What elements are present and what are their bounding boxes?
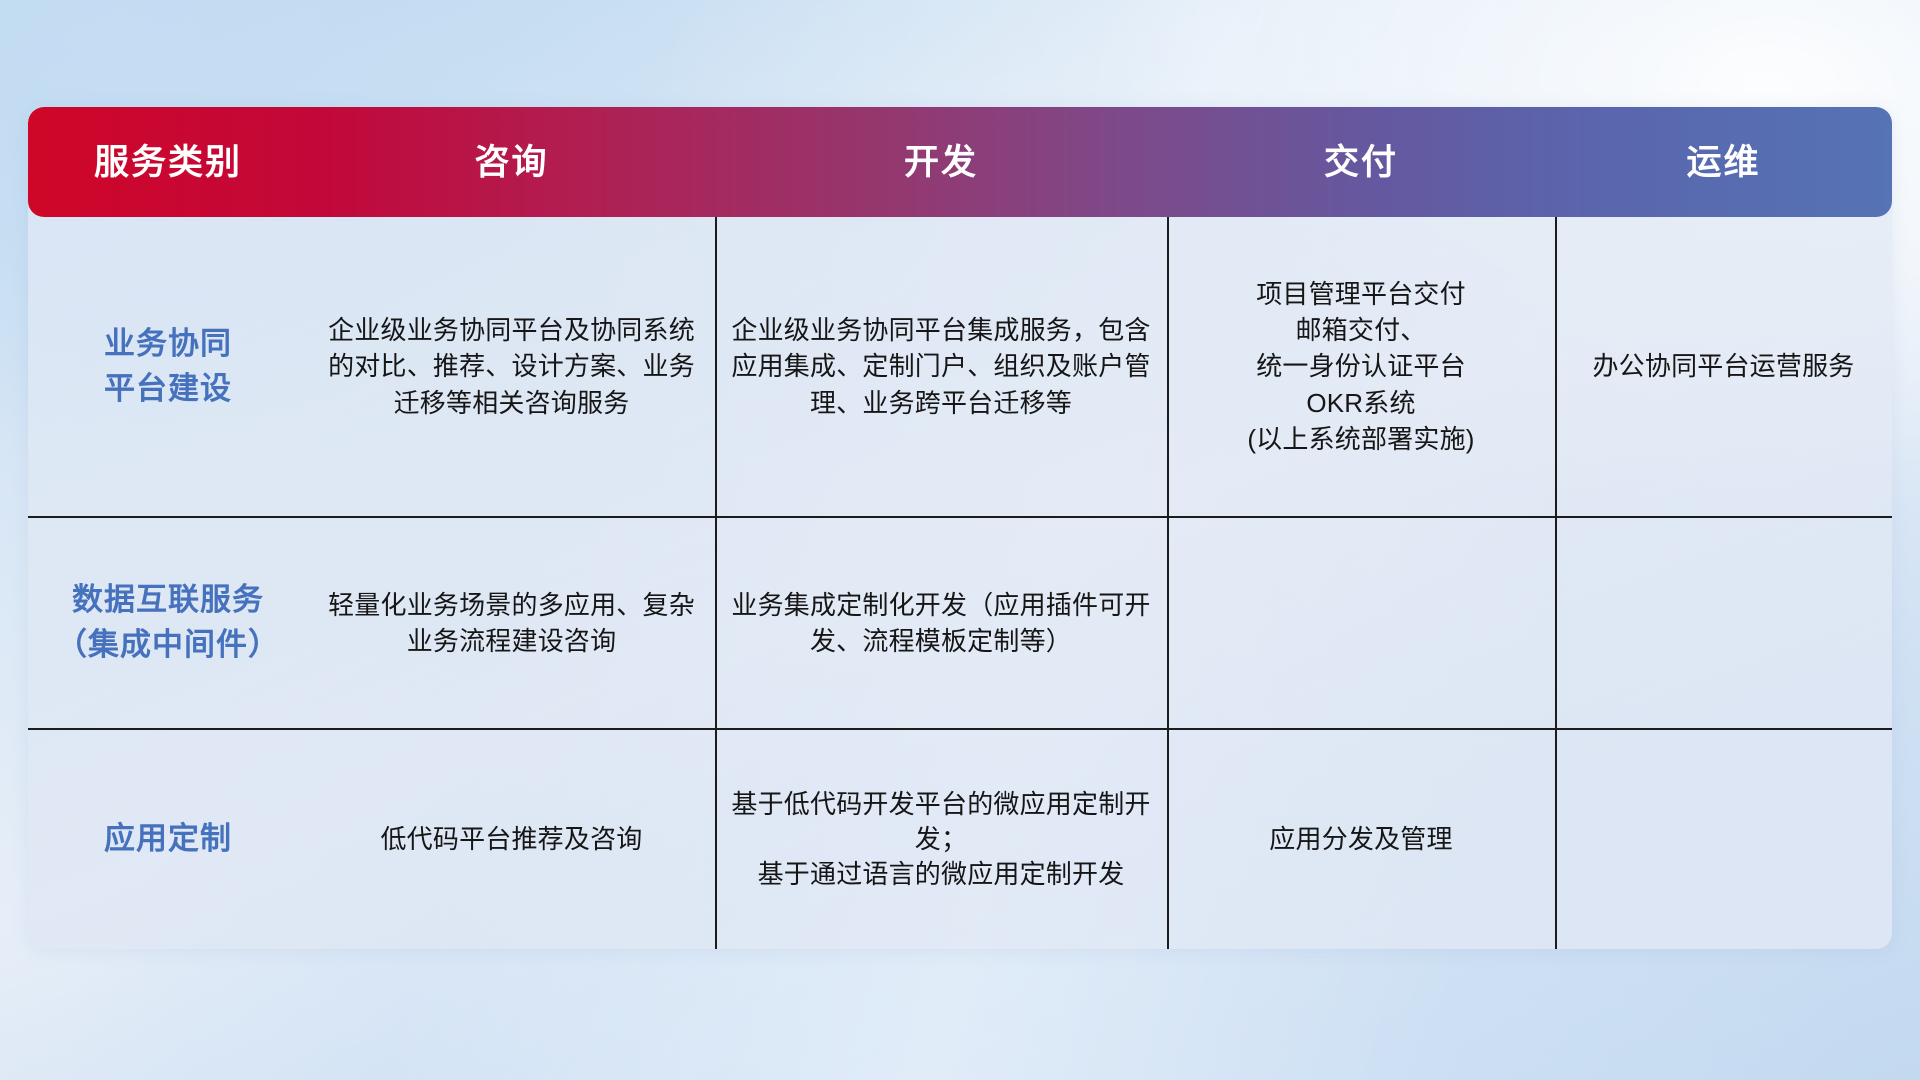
cell-row3-consulting: 低代码平台推荐及咨询 (308, 730, 715, 949)
table-row: 数据互联服务（集成中间件） 轻量化业务场景的多应用、复杂业务流程建设咨询 业务集… (28, 518, 1892, 728)
column-header-consulting: 咨询 (308, 145, 715, 180)
row-label-data-interconnect: 数据互联服务（集成中间件） (28, 518, 308, 728)
cell-row2-operations (1555, 518, 1892, 728)
cell-row1-operations: 办公协同平台运营服务 (1555, 217, 1892, 516)
table-header-row: 服务类别 咨询 开发 交付 运维 (28, 107, 1892, 217)
cell-row3-operations (1555, 730, 1892, 949)
cell-row1-development: 企业级业务协同平台集成服务，包含应用集成、定制门户、组织及账户管理、业务跨平台迁… (715, 217, 1167, 516)
row-label-business-collaboration: 业务协同平台建设 (28, 217, 308, 516)
column-header-operations: 运维 (1555, 145, 1892, 180)
cell-row2-development: 业务集成定制化开发（应用插件可开发、流程模板定制等） (715, 518, 1167, 728)
row-label-app-customization: 应用定制 (28, 730, 308, 949)
table-row: 业务协同平台建设 企业级业务协同平台及协同系统的对比、推荐、设计方案、业务迁移等… (28, 217, 1892, 516)
cell-row3-delivery: 应用分发及管理 (1167, 730, 1555, 949)
table-row: 应用定制 低代码平台推荐及咨询 基于低代码开发平台的微应用定制开发；基于通过语言… (28, 730, 1892, 949)
cell-row3-development: 基于低代码开发平台的微应用定制开发；基于通过语言的微应用定制开发 (715, 730, 1167, 949)
column-header-development: 开发 (715, 145, 1167, 180)
cell-row2-delivery (1167, 518, 1555, 728)
table-body: 业务协同平台建设 企业级业务协同平台及协同系统的对比、推荐、设计方案、业务迁移等… (28, 217, 1892, 949)
column-header-delivery: 交付 (1167, 145, 1555, 180)
service-matrix-table: 服务类别 咨询 开发 交付 运维 业务协同平台建设 企业级业务协同平台及协同系统… (28, 107, 1892, 949)
cell-row1-consulting: 企业级业务协同平台及协同系统的对比、推荐、设计方案、业务迁移等相关咨询服务 (308, 217, 715, 516)
cell-row1-delivery: 项目管理平台交付邮箱交付、统一身份认证平台OKR系统(以上系统部署实施) (1167, 217, 1555, 516)
column-header-service-category: 服务类别 (28, 145, 308, 180)
cell-row2-consulting: 轻量化业务场景的多应用、复杂业务流程建设咨询 (308, 518, 715, 728)
